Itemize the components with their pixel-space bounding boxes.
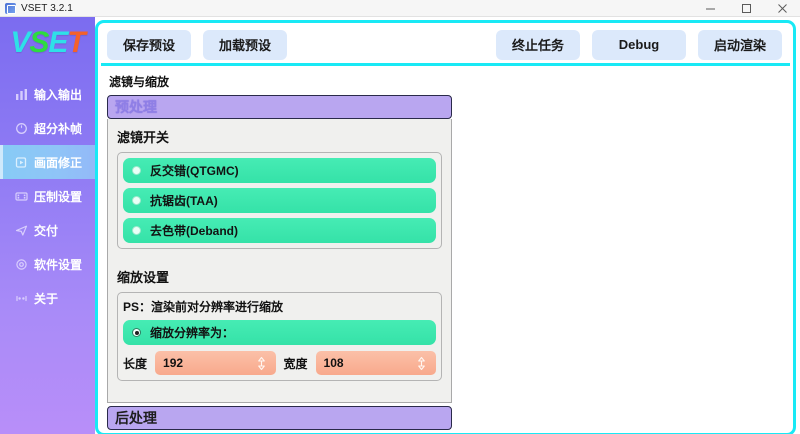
group-spacer xyxy=(117,249,442,267)
preprocess-header[interactable]: 预处理 xyxy=(107,95,452,119)
filter-label: 去色带(Deband) xyxy=(150,222,238,239)
dimension-row: 长度 192 宽度 108 xyxy=(123,351,436,375)
radio-icon[interactable] xyxy=(132,328,141,337)
stepper-arrows-icon[interactable] xyxy=(255,355,268,371)
logo-letter-s: S xyxy=(29,26,48,60)
bottom-spacer xyxy=(117,381,442,393)
sidebar: VSET 输入输出 超分补帧 xyxy=(0,17,95,434)
preprocess-body: 滤镜开关 反交错(QTGMC) 抗锯齿(TAA) xyxy=(107,119,452,403)
sidebar-item-label: 画面修正 xyxy=(34,154,82,171)
sidebar-item-label: 交付 xyxy=(34,222,58,239)
start-render-button[interactable]: 启动渲染 xyxy=(698,30,782,60)
width-label: 宽度 xyxy=(284,355,308,372)
scale-enable-label: 缩放分辨率为： xyxy=(150,324,234,341)
filter-label: 反交错(QTGMC) xyxy=(150,162,239,179)
sidebar-nav: 输入输出 超分补帧 画面修正 xyxy=(0,77,95,315)
sidebar-item-software-settings[interactable]: 软件设置 xyxy=(0,247,95,281)
filter-switch-box: 反交错(QTGMC) 抗锯齿(TAA) 去色带(Deband) xyxy=(117,152,442,249)
sidebar-item-delivery[interactable]: 交付 xyxy=(0,213,95,247)
stop-task-button[interactable]: 终止任务 xyxy=(496,30,580,60)
sidebar-item-label: 压制设置 xyxy=(34,188,82,205)
postprocess-header[interactable]: 后处理 xyxy=(107,406,452,430)
maximize-icon[interactable] xyxy=(728,0,764,17)
logo-letter-v: V xyxy=(10,26,29,60)
logo-letter-t: T xyxy=(67,26,84,60)
application-window: VSET 3.2.1 VSET 输入输出 xyxy=(0,0,800,434)
filter-label: 抗锯齿(TAA) xyxy=(150,192,218,209)
minimize-icon[interactable] xyxy=(692,0,728,17)
filter-group-title: 滤镜开关 xyxy=(117,127,442,146)
scale-enable-switch[interactable]: 缩放分辨率为： xyxy=(123,320,436,345)
vset-logo: VSET xyxy=(0,17,95,69)
sidebar-item-about[interactable]: 关于 xyxy=(0,281,95,315)
load-preset-button[interactable]: 加载预设 xyxy=(203,30,287,60)
sidebar-item-upscale-interpolation[interactable]: 超分补帧 xyxy=(0,111,95,145)
debug-button[interactable]: Debug xyxy=(592,30,686,60)
width-value: 108 xyxy=(324,356,415,370)
scale-note: PS：渲染前对分辨率进行缩放 xyxy=(123,298,436,315)
sidebar-item-label: 输入输出 xyxy=(34,86,82,103)
preprocess-panel: 预处理 滤镜开关 反交错(QTGMC) 抗锯齿(TAA) xyxy=(107,95,452,430)
preset-button-group: 保存预设 加载预设 xyxy=(107,30,287,60)
window-title: VSET 3.2.1 xyxy=(21,3,73,14)
width-stepper[interactable]: 108 xyxy=(316,351,436,375)
title-bar: VSET 3.2.1 xyxy=(0,0,800,17)
sidebar-item-input-output[interactable]: 输入输出 xyxy=(0,77,95,111)
top-toolbar: 保存预设 加载预设 终止任务 Debug 启动渲染 xyxy=(101,26,790,66)
action-button-group: 终止任务 Debug 启动渲染 xyxy=(496,30,782,60)
window-body: VSET 输入输出 超分补帧 xyxy=(0,17,800,434)
sidebar-item-label: 关于 xyxy=(34,290,58,307)
filter-switch-qtgmc[interactable]: 反交错(QTGMC) xyxy=(123,158,436,183)
scale-settings-box: PS：渲染前对分辨率进行缩放 缩放分辨率为： 长度 192 xyxy=(117,292,442,381)
radio-icon[interactable] xyxy=(132,196,141,205)
frame-play-icon xyxy=(14,155,28,169)
page-title: 滤镜与缩放 xyxy=(109,73,786,90)
length-label: 长度 xyxy=(123,355,147,372)
filter-switch-taa[interactable]: 抗锯齿(TAA) xyxy=(123,188,436,213)
radio-icon[interactable] xyxy=(132,226,141,235)
length-stepper[interactable]: 192 xyxy=(155,351,275,375)
info-icon xyxy=(14,291,28,305)
logo-letter-e: E xyxy=(48,26,67,60)
sidebar-item-label: 超分补帧 xyxy=(34,120,82,137)
app-icon xyxy=(5,3,16,14)
save-preset-button[interactable]: 保存预设 xyxy=(107,30,191,60)
stepper-arrows-icon[interactable] xyxy=(415,355,428,371)
content-area: 保存预设 加载预设 终止任务 Debug 启动渲染 滤镜与缩放 预处理 xyxy=(95,17,800,434)
circle-sparkle-icon xyxy=(14,121,28,135)
film-icon xyxy=(14,189,28,203)
gear-icon xyxy=(14,257,28,271)
sidebar-item-label: 软件设置 xyxy=(34,256,82,273)
content-inner: 保存预设 加载预设 终止任务 Debug 启动渲染 滤镜与缩放 预处理 xyxy=(95,20,796,434)
filter-switch-deband[interactable]: 去色带(Deband) xyxy=(123,218,436,243)
settings-pane: 滤镜与缩放 预处理 滤镜开关 反交错(QTGMC) xyxy=(107,66,786,430)
close-icon[interactable] xyxy=(764,0,800,17)
length-value: 192 xyxy=(163,356,254,370)
radio-icon[interactable] xyxy=(132,166,141,175)
send-icon xyxy=(14,223,28,237)
scale-group-title: 缩放设置 xyxy=(117,267,442,286)
sidebar-item-picture-correction[interactable]: 画面修正 xyxy=(0,145,95,179)
sidebar-item-encoding-settings[interactable]: 压制设置 xyxy=(0,179,95,213)
chart-io-icon xyxy=(14,87,28,101)
